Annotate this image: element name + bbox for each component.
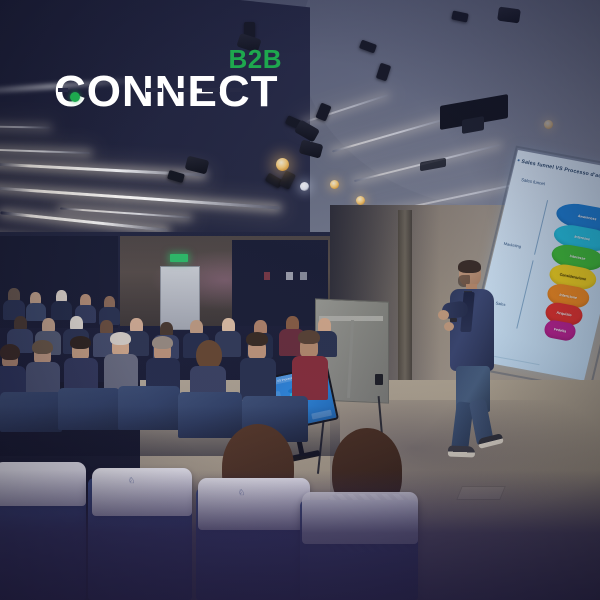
wall-sign [286,272,293,280]
logo-stencil-cut [174,88,190,92]
flipchart-clip [375,374,383,385]
audience-member-body [26,362,60,396]
exit-sign [170,254,188,262]
wall-sign [300,272,307,280]
audience-member-body [240,358,276,400]
wall-sign [264,272,270,280]
presenter-hair [458,260,481,273]
b2b-connect-logo: B2B CONNECT [54,46,284,116]
spotlight-bulb [276,158,289,171]
audience-member-hair [32,340,53,354]
conference-photo: Sales funnel VS Processo d'acquisto Sale… [0,0,600,600]
presenter [440,262,520,477]
audience-member-hair [70,336,91,349]
logo-stencil-cut [146,88,162,92]
audience-member-hair [152,336,173,349]
audience-member-hair [298,330,320,344]
foreground-shadow [0,470,600,600]
spotlight-bulb [330,180,339,189]
logo-stencil-cut [58,88,68,92]
audience-member-hair [246,332,268,346]
wall-panel [232,240,328,326]
logo-stencil-cut [230,88,242,92]
audience-member-body [51,301,72,320]
spotlight-bulb [300,182,309,191]
presenter-shoe [448,446,475,458]
audience-member-hair [110,332,131,345]
audience-member-body [26,303,46,321]
spotlight-fixture [497,7,521,24]
audience-member-body [292,356,328,400]
spotlight-bulb [544,120,553,129]
logo-wordmark: CONNECT [54,70,279,114]
audience-member-hair [0,344,20,360]
presenter-hand [444,322,454,331]
presenter-watch [450,318,457,322]
presenter-hand [438,310,449,320]
logo-green-dot [70,92,80,102]
spotlight-bulb [356,196,365,205]
logo-stencil-cut [202,88,220,92]
